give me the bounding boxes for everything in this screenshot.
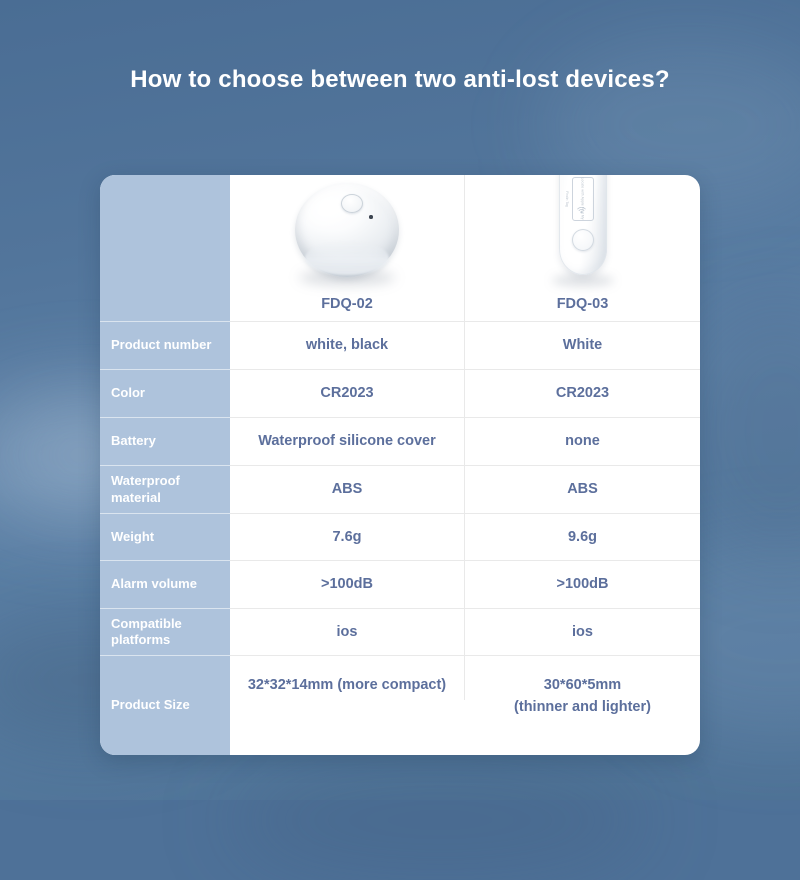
value-fdq-02-battery: Waterproof silicone cover bbox=[230, 418, 465, 465]
product-header-fdq-03[interactable]: Findin Tag Locate with Apple Find My bbox=[465, 175, 700, 321]
row-label-compatible-platforms: Compatible platforms bbox=[100, 609, 230, 656]
product-shadow bbox=[552, 275, 614, 286]
row-label-product-size: Product Size bbox=[100, 656, 230, 755]
value-fdq-02-waterproof-material: ABS bbox=[230, 466, 465, 513]
row-label-weight: Weight bbox=[100, 514, 230, 561]
product-header-fdq-02[interactable]: FDQ-02 bbox=[230, 175, 465, 321]
table-row: ABS ABS bbox=[230, 466, 700, 514]
value-fdq-03-product-number: White bbox=[465, 322, 700, 369]
table-row: CR2023 CR2023 bbox=[230, 370, 700, 418]
page-title: How to choose between two anti-lost devi… bbox=[0, 66, 800, 94]
puck-led-dot-icon bbox=[369, 215, 373, 219]
comparison-values-grid: FDQ-02 Findin Tag Locate with Apple Find… bbox=[230, 175, 700, 755]
row-label-alarm-volume: Alarm volume bbox=[100, 561, 230, 609]
value-fdq-02-product-size: 32*32*14mm (more compact) bbox=[230, 656, 465, 700]
value-fdq-03-battery: none bbox=[465, 418, 700, 465]
value-fdq-03-weight: 9.6g bbox=[465, 514, 700, 560]
puck-body bbox=[295, 183, 399, 277]
value-fdq-03-color: CR2023 bbox=[465, 370, 700, 417]
value-fdq-02-weight: 7.6g bbox=[230, 514, 465, 560]
label-header-spacer bbox=[100, 175, 230, 322]
value-fdq-02-alarm-volume: >100dB bbox=[230, 561, 465, 608]
product-name-fdq-02: FDQ-02 bbox=[321, 296, 373, 312]
row-label-color: Color bbox=[100, 370, 230, 418]
product-header-row: FDQ-02 Findin Tag Locate with Apple Find… bbox=[230, 175, 700, 322]
value-fdq-02-color: CR2023 bbox=[230, 370, 465, 417]
value-fdq-03-compatible-platforms: ios bbox=[465, 609, 700, 655]
table-row: 32*32*14mm (more compact) 30*60*5mm (thi… bbox=[230, 656, 700, 755]
fob-brand-engraving: Findin Tag bbox=[562, 179, 572, 219]
fob-body: Findin Tag Locate with Apple Find My bbox=[559, 175, 607, 275]
table-row: white, black White bbox=[230, 322, 700, 370]
table-row: 7.6g 9.6g bbox=[230, 514, 700, 561]
puck-button-icon bbox=[341, 194, 363, 213]
round-tracker-image bbox=[287, 181, 407, 285]
value-fdq-02-compatible-platforms: ios bbox=[230, 609, 465, 655]
value-fdq-02-product-number: white, black bbox=[230, 322, 465, 369]
table-row: ios ios bbox=[230, 609, 700, 656]
product-name-fdq-03: FDQ-03 bbox=[557, 296, 609, 312]
table-row: >100dB >100dB bbox=[230, 561, 700, 609]
keyfob-tag-image: Findin Tag Locate with Apple Find My bbox=[535, 175, 631, 285]
attribute-label-column: Product number Color Battery Waterproof … bbox=[100, 175, 230, 755]
table-row: Waterproof silicone cover none bbox=[230, 418, 700, 466]
background-cloud bbox=[230, 760, 650, 880]
row-label-product-number: Product number bbox=[100, 322, 230, 370]
nfc-signal-icon bbox=[575, 205, 589, 216]
puck-rim bbox=[305, 241, 389, 275]
row-label-battery: Battery bbox=[100, 418, 230, 466]
value-fdq-03-product-size: 30*60*5mm (thinner and lighter) bbox=[465, 656, 700, 723]
fob-button-icon bbox=[572, 229, 594, 251]
row-label-waterproof-material: Waterproof material bbox=[100, 466, 230, 514]
value-fdq-03-alarm-volume: >100dB bbox=[465, 561, 700, 608]
comparison-table-card: Product number Color Battery Waterproof … bbox=[100, 175, 700, 755]
value-fdq-03-waterproof-material: ABS bbox=[465, 466, 700, 513]
